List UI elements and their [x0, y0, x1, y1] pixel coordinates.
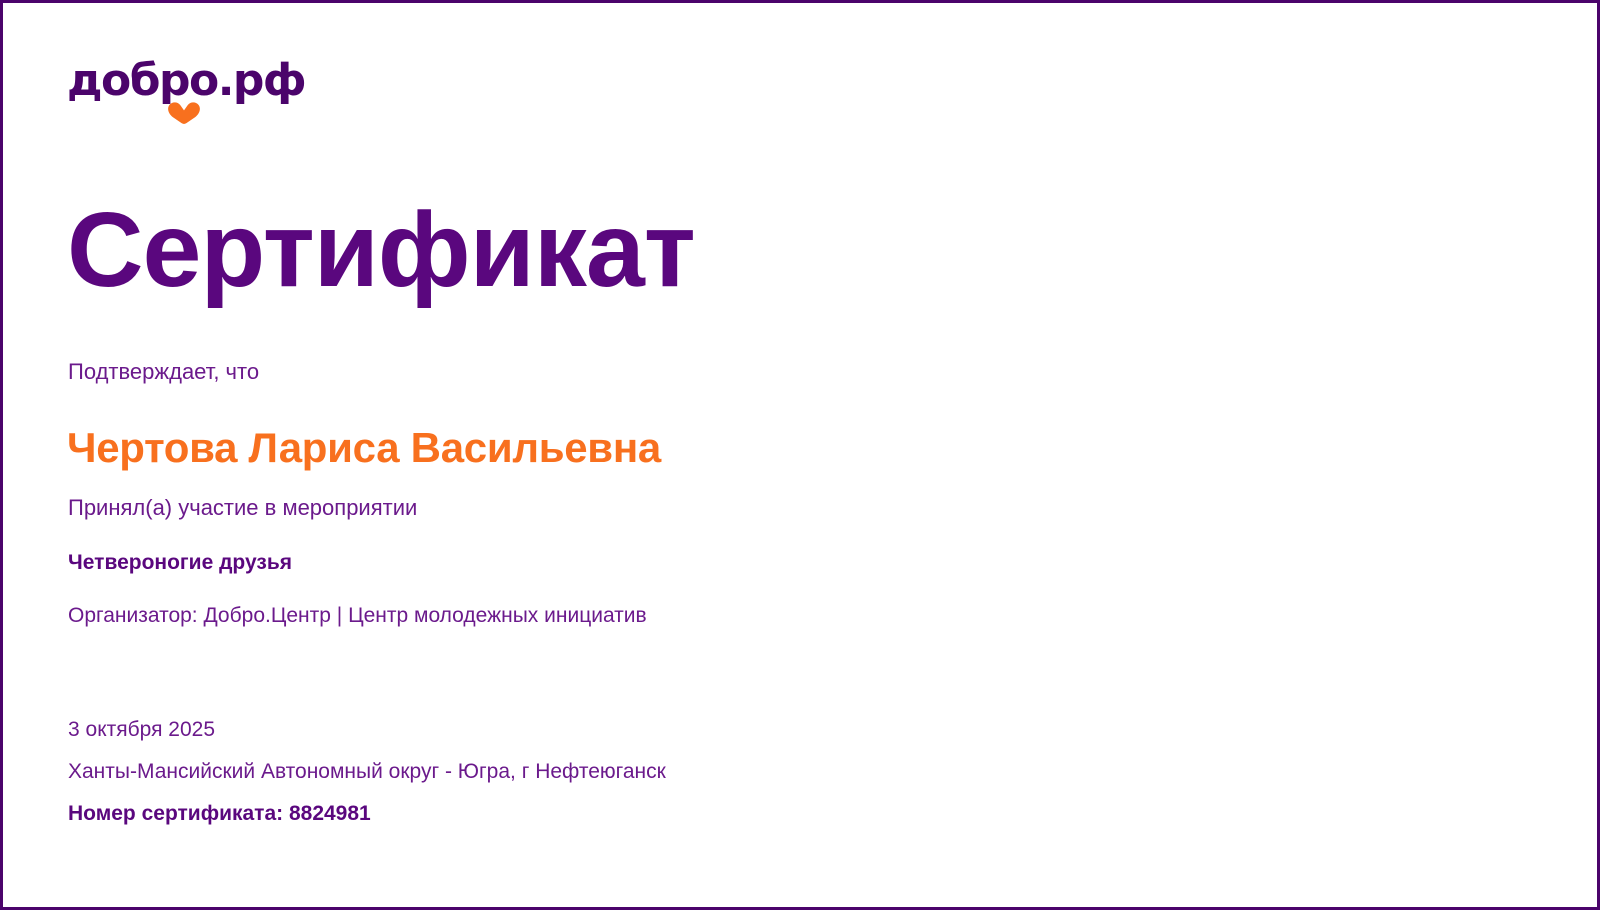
participation-label: Принял(а) участие в мероприятии [68, 494, 417, 523]
organizer-line: Организатор: Добро.Центр | Центр молодеж… [68, 602, 647, 629]
certificate-content: добро.рф Сертификат Подтверждает, что Че… [67, 3, 1547, 907]
confirms-label: Подтверждает, что [68, 358, 259, 387]
certificate-number: Номер сертификата: 8824981 [68, 800, 1268, 827]
page-title: Сертификат [67, 193, 695, 307]
heart-icon [167, 102, 201, 124]
issue-location: Ханты-Мансийский Автономный округ - Югра… [68, 758, 1268, 785]
certificate-footer: 3 октября 2025 Ханты-Мансийский Автономн… [68, 716, 1268, 827]
recipient-name: Чертова Лариса Васильевна [67, 423, 661, 473]
certificate-page: добро.рф Сертификат Подтверждает, что Че… [0, 0, 1600, 910]
logo-wordmark: добро.рф [67, 59, 387, 103]
event-name: Четвероногие друзья [68, 549, 292, 576]
issue-date: 3 октября 2025 [68, 716, 1268, 743]
dobro-rf-logo[interactable]: добро.рф [67, 59, 387, 121]
